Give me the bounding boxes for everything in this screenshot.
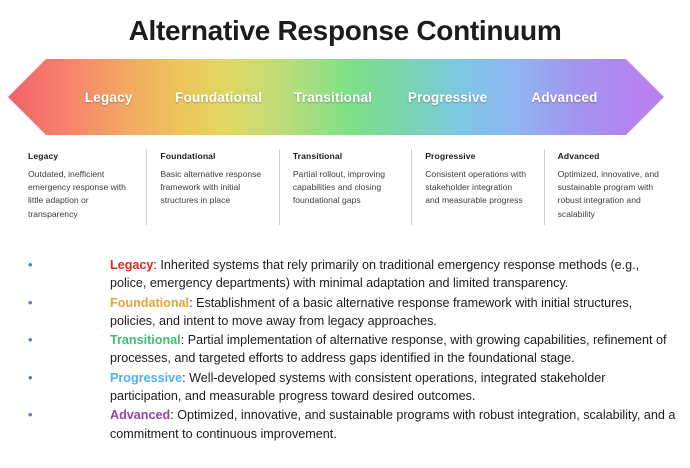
stage-definition: Inherited systems that rely primarily on…: [110, 258, 639, 290]
list-item-text: Legacy: Inherited systems that rely prim…: [110, 256, 683, 293]
bullet-dot-icon: •: [28, 294, 38, 312]
stage-name-transitional: Transitional: [110, 333, 181, 347]
list-item-text: Progressive: Well-developed systems with…: [110, 369, 683, 406]
stage-name-legacy: Legacy: [110, 258, 153, 272]
stage-definition: Optimized, innovative, and sustainable p…: [110, 408, 675, 440]
stage-name-progressive: Progressive: [110, 371, 182, 385]
stage-description-body: Basic alternative response framework wit…: [160, 168, 262, 208]
stage-description-progressive: Progressive Consistent operations with s…: [411, 145, 543, 233]
stage-definition-list: • Legacy: Inherited systems that rely pr…: [28, 256, 683, 444]
stage-description-foundational: Foundational Basic alternative response …: [146, 145, 278, 233]
stage-description-body: Partial rollout, improving capabilities …: [293, 168, 395, 208]
slide-canvas: Alternative Response Continuum Legacy Fo…: [0, 0, 690, 468]
stage-description-title: Foundational: [160, 151, 262, 161]
list-item: • Foundational: Establishment of a basic…: [28, 294, 683, 331]
bullet-dot-icon: •: [28, 406, 38, 424]
stage-name-separator: :: [189, 296, 196, 310]
continuum-arrow: Legacy Foundational Transitional Progres…: [8, 59, 664, 135]
stage-name-foundational: Foundational: [110, 296, 189, 310]
stage-description-title: Advanced: [558, 151, 660, 161]
list-item: • Progressive: Well-developed systems wi…: [28, 369, 683, 406]
bullet-dot-icon: •: [28, 369, 38, 387]
stage-description-title: Progressive: [425, 151, 527, 161]
stage-description-transitional: Transitional Partial rollout, improving …: [279, 145, 411, 233]
list-item-text: Advanced: Optimized, innovative, and sus…: [110, 406, 683, 443]
list-item-text: Transitional: Partial implementation of …: [110, 331, 683, 368]
list-item: • Advanced: Optimized, innovative, and s…: [28, 406, 683, 443]
list-item-text: Foundational: Establishment of a basic a…: [110, 294, 683, 331]
stage-description-title: Legacy: [28, 151, 130, 161]
stage-definition: Partial implementation of alternative re…: [110, 333, 667, 365]
stage-description-body: Optimized, innovative, and sustainable p…: [558, 168, 660, 221]
arrow-stage-labels: Legacy Foundational Transitional Progres…: [8, 59, 664, 135]
arrow-stage-legacy[interactable]: Legacy: [56, 90, 161, 105]
stage-name-advanced: Advanced: [110, 408, 170, 422]
stage-description-body: Outdated, inefficient emergency response…: [28, 168, 130, 221]
page-title: Alternative Response Continuum: [0, 14, 690, 48]
stage-name-separator: :: [181, 333, 188, 347]
list-item: • Transitional: Partial implementation o…: [28, 331, 683, 368]
arrow-stage-progressive[interactable]: Progressive: [390, 90, 505, 105]
bullet-dot-icon: •: [28, 331, 38, 349]
stage-description-title: Transitional: [293, 151, 395, 161]
stage-description-legacy: Legacy Outdated, inefficient emergency r…: [14, 145, 146, 233]
stage-description-body: Consistent operations with stakeholder i…: [425, 168, 527, 208]
bullet-dot-icon: •: [28, 256, 38, 274]
stage-description-advanced: Advanced Optimized, innovative, and sust…: [544, 145, 676, 233]
stage-description-row: Legacy Outdated, inefficient emergency r…: [14, 145, 676, 233]
arrow-stage-advanced[interactable]: Advanced: [505, 90, 624, 105]
arrow-stage-transitional[interactable]: Transitional: [276, 90, 391, 105]
arrow-stage-foundational[interactable]: Foundational: [161, 90, 276, 105]
list-item: • Legacy: Inherited systems that rely pr…: [28, 256, 683, 293]
